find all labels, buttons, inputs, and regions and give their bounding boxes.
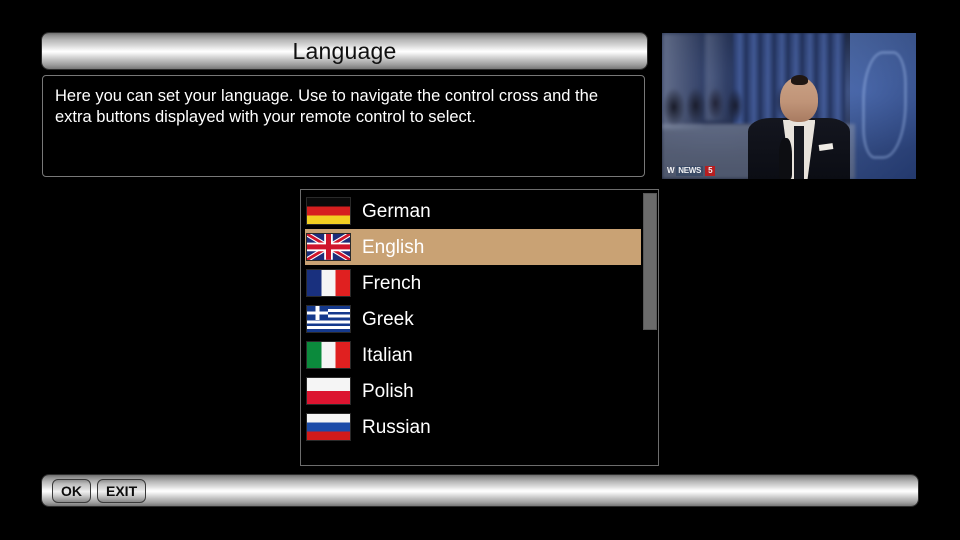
language-list-item-label: German xyxy=(362,202,431,221)
flag-fr-icon xyxy=(306,269,351,297)
language-list-item-label: Russian xyxy=(362,418,431,437)
reporter-tie xyxy=(794,126,804,179)
flag-de-icon xyxy=(306,197,351,225)
flag-it-icon xyxy=(306,341,351,369)
preview-reporter xyxy=(748,77,850,179)
list-scrollbar-track[interactable] xyxy=(643,192,657,465)
help-description-text: Here you can set your language. Use to n… xyxy=(55,86,632,128)
ok-button[interactable]: OK xyxy=(52,479,91,503)
flag-pl-icon xyxy=(306,377,351,405)
flag-gr-icon xyxy=(306,305,351,333)
language-list-item[interactable]: French xyxy=(305,265,641,301)
tv-settings-screen: Language Here you can set your language.… xyxy=(0,0,960,540)
language-list-item[interactable]: Polish xyxy=(305,373,641,409)
language-list-item[interactable]: German xyxy=(305,193,641,229)
page-title: Language xyxy=(293,40,397,63)
language-list[interactable]: GermanEnglishFrenchGreekItalianPolishRus… xyxy=(305,193,641,445)
language-list-panel[interactable]: GermanEnglishFrenchGreekItalianPolishRus… xyxy=(300,189,659,466)
channel-logo: W NEWS 5 xyxy=(667,166,715,176)
list-scrollbar-thumb[interactable] xyxy=(643,193,657,330)
live-tv-preview[interactable]: W NEWS 5 xyxy=(662,33,916,179)
channel-logo-part1: W xyxy=(667,167,674,175)
language-list-item-label: Greek xyxy=(362,310,414,329)
reporter-head xyxy=(780,77,819,122)
language-list-item-label: English xyxy=(362,238,424,257)
language-list-item[interactable]: Russian xyxy=(305,409,641,445)
channel-logo-part2: NEWS xyxy=(676,166,703,176)
exit-button[interactable]: EXIT xyxy=(97,479,146,503)
page-title-bar: Language xyxy=(42,33,647,69)
footer-button-bar: OK EXIT xyxy=(42,475,918,506)
flag-gb-icon xyxy=(306,233,351,261)
channel-logo-part3: 5 xyxy=(705,166,715,176)
flag-ru-icon xyxy=(306,413,351,441)
language-list-item[interactable]: Italian xyxy=(305,337,641,373)
reporter-microphone xyxy=(779,138,792,179)
language-list-item[interactable]: Greek xyxy=(305,301,641,337)
language-list-item-label: Polish xyxy=(362,382,414,401)
reporter-hair xyxy=(791,75,808,85)
language-list-item-label: French xyxy=(362,274,421,293)
help-description-box: Here you can set your language. Use to n… xyxy=(42,75,645,177)
language-list-item[interactable]: English xyxy=(305,229,641,265)
language-list-item-label: Italian xyxy=(362,346,413,365)
